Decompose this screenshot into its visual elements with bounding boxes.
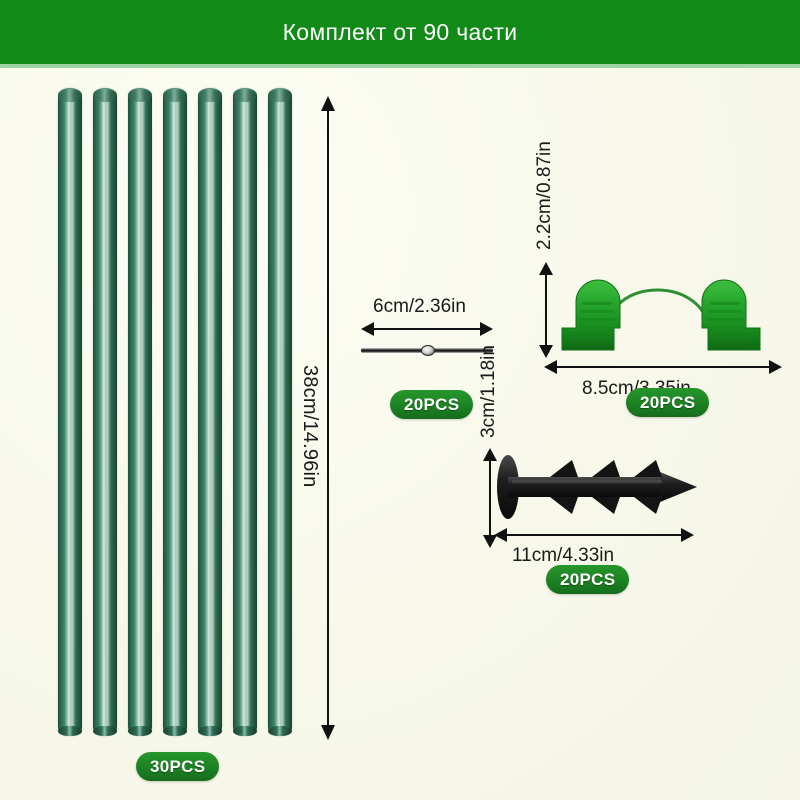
twist-tie-knot [421,345,435,356]
twist-tie-length-label: 6cm/2.36in [373,296,466,318]
rod-height-dimension-arrow [320,96,336,740]
twist-tie-dimension-arrow [361,322,493,336]
rod-3 [128,88,152,736]
rod-7 [268,88,292,736]
arrow-right-icon [681,528,694,542]
twist-tie-illustration [361,344,493,358]
badge-clip-count: 20PCS [626,388,709,417]
rod-height-label: 38cm/14.96in [298,365,321,487]
clip-width-dimension-arrow [544,360,782,374]
stake-height-label: 3cm/1.18in [478,345,500,438]
ground-stake-illustration [492,446,702,528]
rod-6 [233,88,257,736]
badge-rods-count: 30PCS [136,752,219,781]
badge-stake-count: 20PCS [546,565,629,594]
arrow-right-icon [769,360,782,374]
dimension-line [489,456,491,540]
dimension-line [369,328,485,330]
badge-twist-tie-count: 20PCS [390,390,473,419]
header-banner: Комплект от 90 части [0,0,800,64]
page-title: Комплект от 90 части [283,19,518,46]
rod-4 [163,88,187,736]
clip-height-label: 2.2cm/0.87in [534,141,556,250]
stake-length-label: 11cm/4.33in [512,545,614,567]
rod-1 [58,88,82,736]
dimension-line [502,534,686,536]
rod-2 [93,88,117,736]
dimension-line [552,366,774,368]
plant-clip-illustration [542,264,780,356]
rods-group [58,88,310,738]
dimension-line [327,104,329,732]
arrow-down-icon [321,725,335,740]
product-infographic: Комплект от 90 части 38cm/14.96in 30PCS … [0,0,800,800]
arrow-right-icon [480,322,493,336]
rod-5 [198,88,222,736]
stake-length-dimension-arrow [494,528,694,542]
